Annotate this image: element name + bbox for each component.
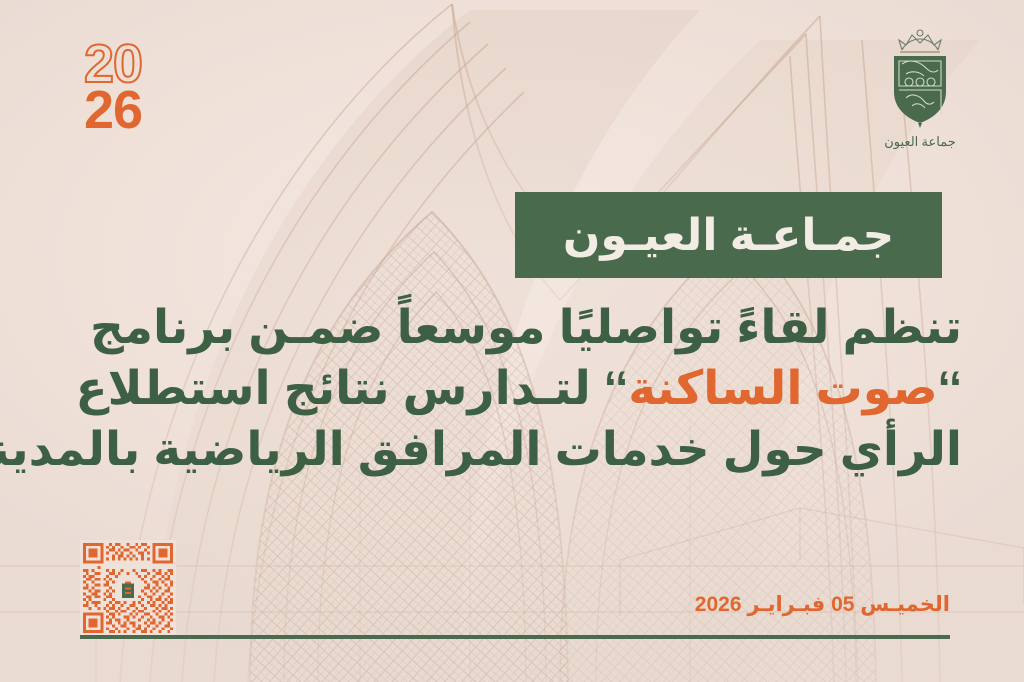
headline-line-2-rest: لتـدارس نتائج استطلاع [75,361,590,414]
year-bottom: 26 [84,88,142,132]
headline-block: تنظم لقاءً تواصليًا موسعاً ضمـن برنامج ‘… [62,296,962,479]
quote-open: ‘‘ [938,361,962,414]
program-name: صوت الساكنة [628,361,937,414]
event-date: الخميـس 05 فبـرايـر 2026 [695,592,950,617]
coat-of-arms-icon [122,581,134,598]
coat-of-arms-shield-crown-icon [860,26,980,130]
emblem-caption: جماعة العيون [860,134,980,150]
organization-banner: جمـاعـة العيـون [515,192,942,278]
headline-line-1: تنظم لقاءً تواصليًا موسعاً ضمـن برنامج [62,296,962,357]
bottom-divider [80,635,950,639]
organization-name: جمـاعـة العيـون [563,210,894,261]
qr-code-icon[interactable] [80,540,176,636]
quote-close: ‘‘ [604,361,628,414]
headline-line-2: ‘‘صوت الساكنة‘‘ لتـدارس نتائج استطلاع [62,357,962,418]
poster-canvas: 20 26 [0,0,1024,682]
municipality-emblem: جماعة العيون [860,26,980,150]
headline-line-3: الرأي حول خدمات المرافق الرياضية بالمدين… [62,418,962,479]
year-mark: 20 26 [84,42,142,133]
